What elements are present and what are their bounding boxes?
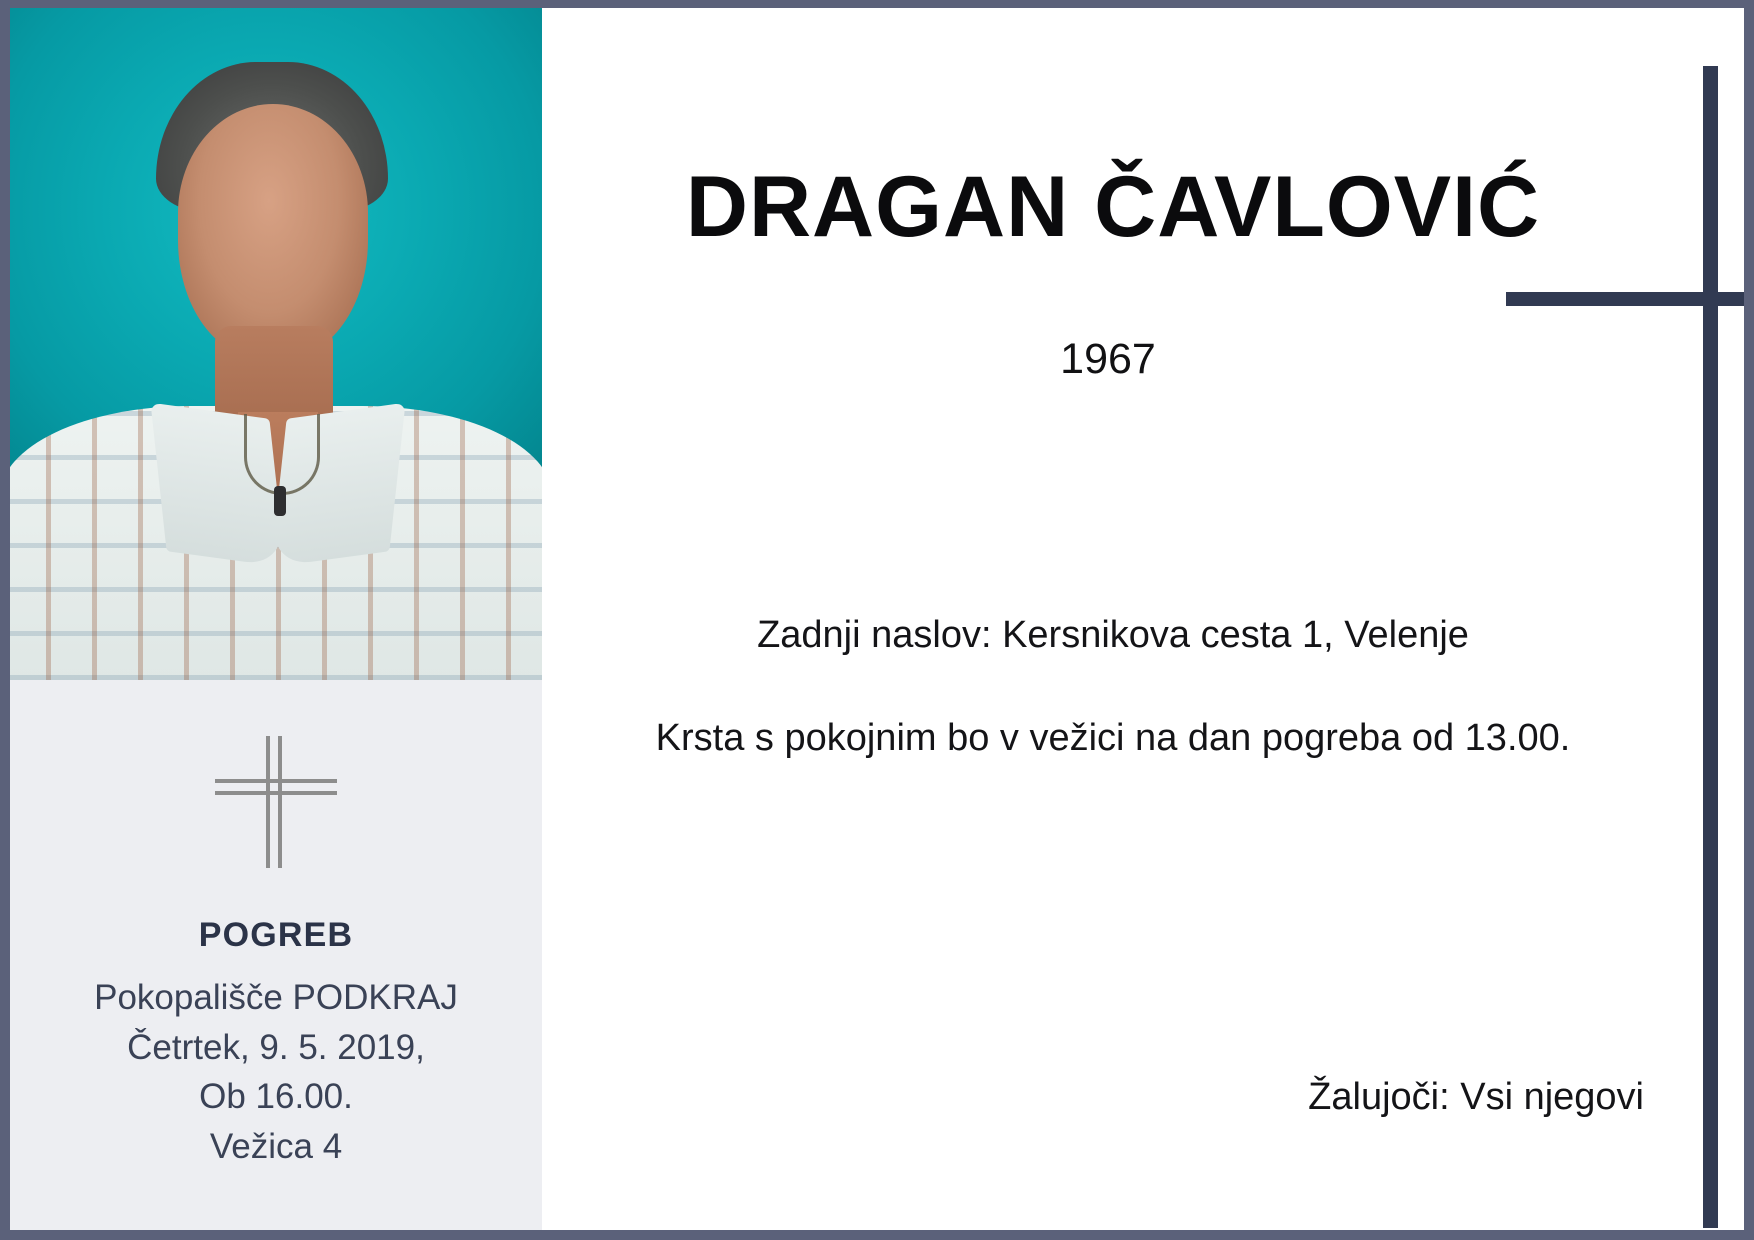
- notice-body: Zadnji naslov: Kersnikova cesta 1, Velen…: [542, 608, 1744, 766]
- funeral-details: POGREB Pokopališče PODKRAJ Četrtek, 9. 5…: [10, 916, 542, 1172]
- photo-pendant: [274, 486, 286, 516]
- deceased-name: DRAGAN ČAVLOVIĆ: [542, 158, 1744, 257]
- notice-spacer: [542, 663, 1684, 711]
- funeral-heading: POGREB: [30, 916, 522, 955]
- main-panel: DRAGAN ČAVLOVIĆ 1967 Zadnji naslov: Kers…: [542, 8, 1744, 1230]
- photo-necklace: [244, 414, 320, 495]
- card-inner: POGREB Pokopališče PODKRAJ Četrtek, 9. 5…: [10, 8, 1744, 1230]
- memorial-cross-crossbar: [1506, 292, 1744, 306]
- funeral-detail-line: Vežica 4: [30, 1122, 522, 1172]
- funeral-detail-line: Pokopališče PODKRAJ: [30, 973, 522, 1023]
- viewing-info-line: Krsta s pokojnim bo v vežici na dan pogr…: [542, 711, 1684, 766]
- photo-face: [178, 104, 368, 359]
- left-column: POGREB Pokopališče PODKRAJ Četrtek, 9. 5…: [10, 8, 542, 1230]
- funeral-detail-line: Četrtek, 9. 5. 2019,: [30, 1023, 522, 1073]
- obituary-card: POGREB Pokopališče PODKRAJ Četrtek, 9. 5…: [0, 0, 1754, 1240]
- birth-year: 1967: [542, 335, 1744, 384]
- last-address-line: Zadnji naslov: Kersnikova cesta 1, Velen…: [542, 608, 1684, 663]
- funeral-detail-line: Ob 16.00.: [30, 1072, 522, 1122]
- cross-icon: [211, 732, 341, 872]
- portrait-photo: [10, 8, 542, 680]
- mourners-line: Žalujoči: Vsi njegovi: [1308, 1076, 1644, 1119]
